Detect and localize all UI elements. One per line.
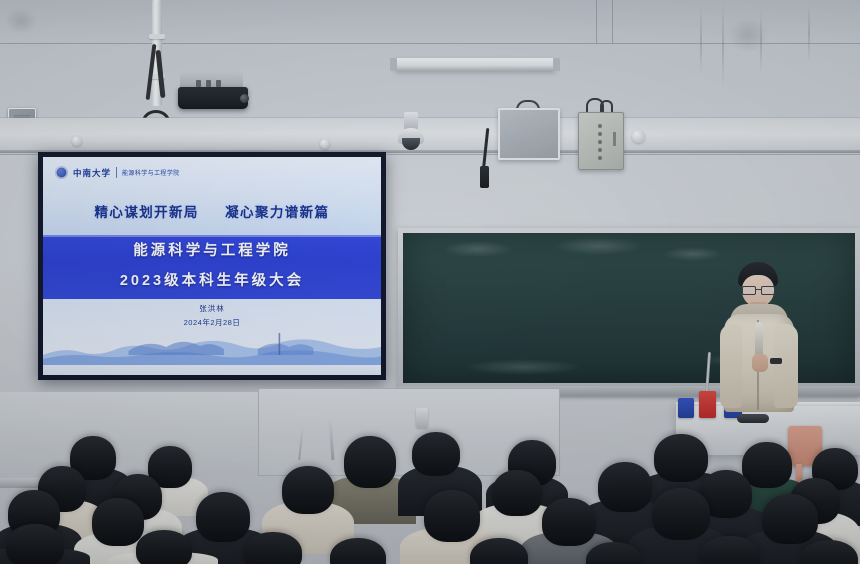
logo-university-name: 中南大学 xyxy=(73,167,111,179)
seated-students xyxy=(0,420,860,564)
student-head xyxy=(412,432,460,476)
wall-fixture-knob xyxy=(320,139,330,149)
speaker-hand xyxy=(752,354,768,372)
wall-fixture-knob xyxy=(632,130,645,143)
blue-can[interactable] xyxy=(678,398,694,418)
student-head xyxy=(244,532,302,564)
student-head xyxy=(542,498,596,546)
wall-soffit-beam xyxy=(0,118,860,154)
hanging-plug-icon xyxy=(480,166,489,188)
tube-end-cap xyxy=(390,58,397,71)
chalk-dust xyxy=(463,359,583,375)
ceiling-projector xyxy=(178,87,248,109)
lecture-hall-photo: 中南大学 能源科学与工程学院 精心谋划开新局 凝心聚力谱新篇 能源科学与工程学院… xyxy=(0,0,860,564)
wall-fixture-knob xyxy=(72,136,82,146)
control-box-indicator xyxy=(598,156,602,160)
control-box-indicator xyxy=(598,132,602,136)
fluorescent-tube-light xyxy=(395,58,555,71)
slide-bottom-strip xyxy=(43,365,381,375)
presentation-slide: 中南大学 能源科学与工程学院 精心谋划开新局 凝心聚力谱新篇 能源科学与工程学院… xyxy=(43,157,381,375)
student-head xyxy=(330,538,386,564)
chalk-dust xyxy=(553,237,643,255)
wall-monitor-panel xyxy=(498,108,560,160)
speaker-at-podium xyxy=(712,262,804,412)
logo-college-name: 能源科学与工程学院 xyxy=(122,168,180,177)
chair-frame xyxy=(298,426,304,460)
student-head xyxy=(92,498,144,546)
wall-streak xyxy=(808,4,810,62)
wall-streak xyxy=(700,6,702,76)
slide-presenter-name: 张洪林 xyxy=(43,303,381,314)
student-head xyxy=(654,434,708,482)
projection-screen: 中南大学 能源科学与工程学院 精心谋划开新局 凝心聚力谱新篇 能源科学与工程学院… xyxy=(38,152,386,380)
student-head xyxy=(762,494,818,544)
control-box-indicator xyxy=(598,148,602,152)
slide-slogan: 精心谋划开新局 凝心聚力谱新篇 xyxy=(43,201,381,221)
student-head xyxy=(344,436,396,488)
control-box-latch[interactable] xyxy=(613,132,616,146)
slide-title-line1: 能源科学与工程学院 xyxy=(43,239,381,260)
student-head xyxy=(742,442,792,488)
wall-smudge xyxy=(728,18,768,52)
pole-collar xyxy=(149,34,165,39)
chair-frame xyxy=(329,420,335,460)
control-box-indicator xyxy=(598,124,602,128)
handheld-microphone xyxy=(755,322,763,358)
ink-wash-mountain-graphic xyxy=(43,325,381,365)
slide-logo: 中南大学 能源科学与工程学院 xyxy=(55,166,180,179)
university-seal-icon xyxy=(55,166,68,179)
chalk-dust xyxy=(663,247,723,261)
student-head xyxy=(652,488,710,540)
student-head xyxy=(598,462,652,512)
wristwatch xyxy=(770,358,782,364)
student-head xyxy=(424,490,480,542)
student-head xyxy=(136,530,192,564)
tube-end-cap xyxy=(553,58,560,71)
student-head xyxy=(6,524,64,564)
student-head xyxy=(492,470,542,516)
logo-divider xyxy=(116,167,117,178)
student-head xyxy=(282,466,334,514)
slide-title-line2: 2023级本科生年级大会 xyxy=(43,269,381,290)
projector-vent xyxy=(196,80,201,87)
control-box-indicator xyxy=(598,140,602,144)
glasses-icon xyxy=(742,286,774,293)
speaker-arm-left xyxy=(720,324,742,408)
slogan-right: 凝心聚力谱新篇 xyxy=(225,205,329,220)
student-head xyxy=(196,492,250,542)
projector-vent xyxy=(206,80,211,87)
wall-streak xyxy=(722,2,724,88)
slide-date: 2024年2月28日 xyxy=(43,317,381,328)
ceiling-seam-vertical-2 xyxy=(612,0,613,44)
projector-vent xyxy=(216,80,221,87)
slogan-left: 精心谋划开新局 xyxy=(95,205,199,220)
speaker-arm-right xyxy=(774,324,798,408)
glasses-lens-right xyxy=(761,286,775,295)
wall-smudge xyxy=(4,8,38,34)
glasses-lens-left xyxy=(742,286,756,295)
chalk-dust xyxy=(443,241,513,257)
wall-streak xyxy=(760,10,762,74)
slide-main-title: 能源科学与工程学院 2023级本科生年级大会 xyxy=(43,239,381,290)
projector-lens-icon xyxy=(240,94,249,103)
ceiling-seam-vertical xyxy=(596,0,597,44)
